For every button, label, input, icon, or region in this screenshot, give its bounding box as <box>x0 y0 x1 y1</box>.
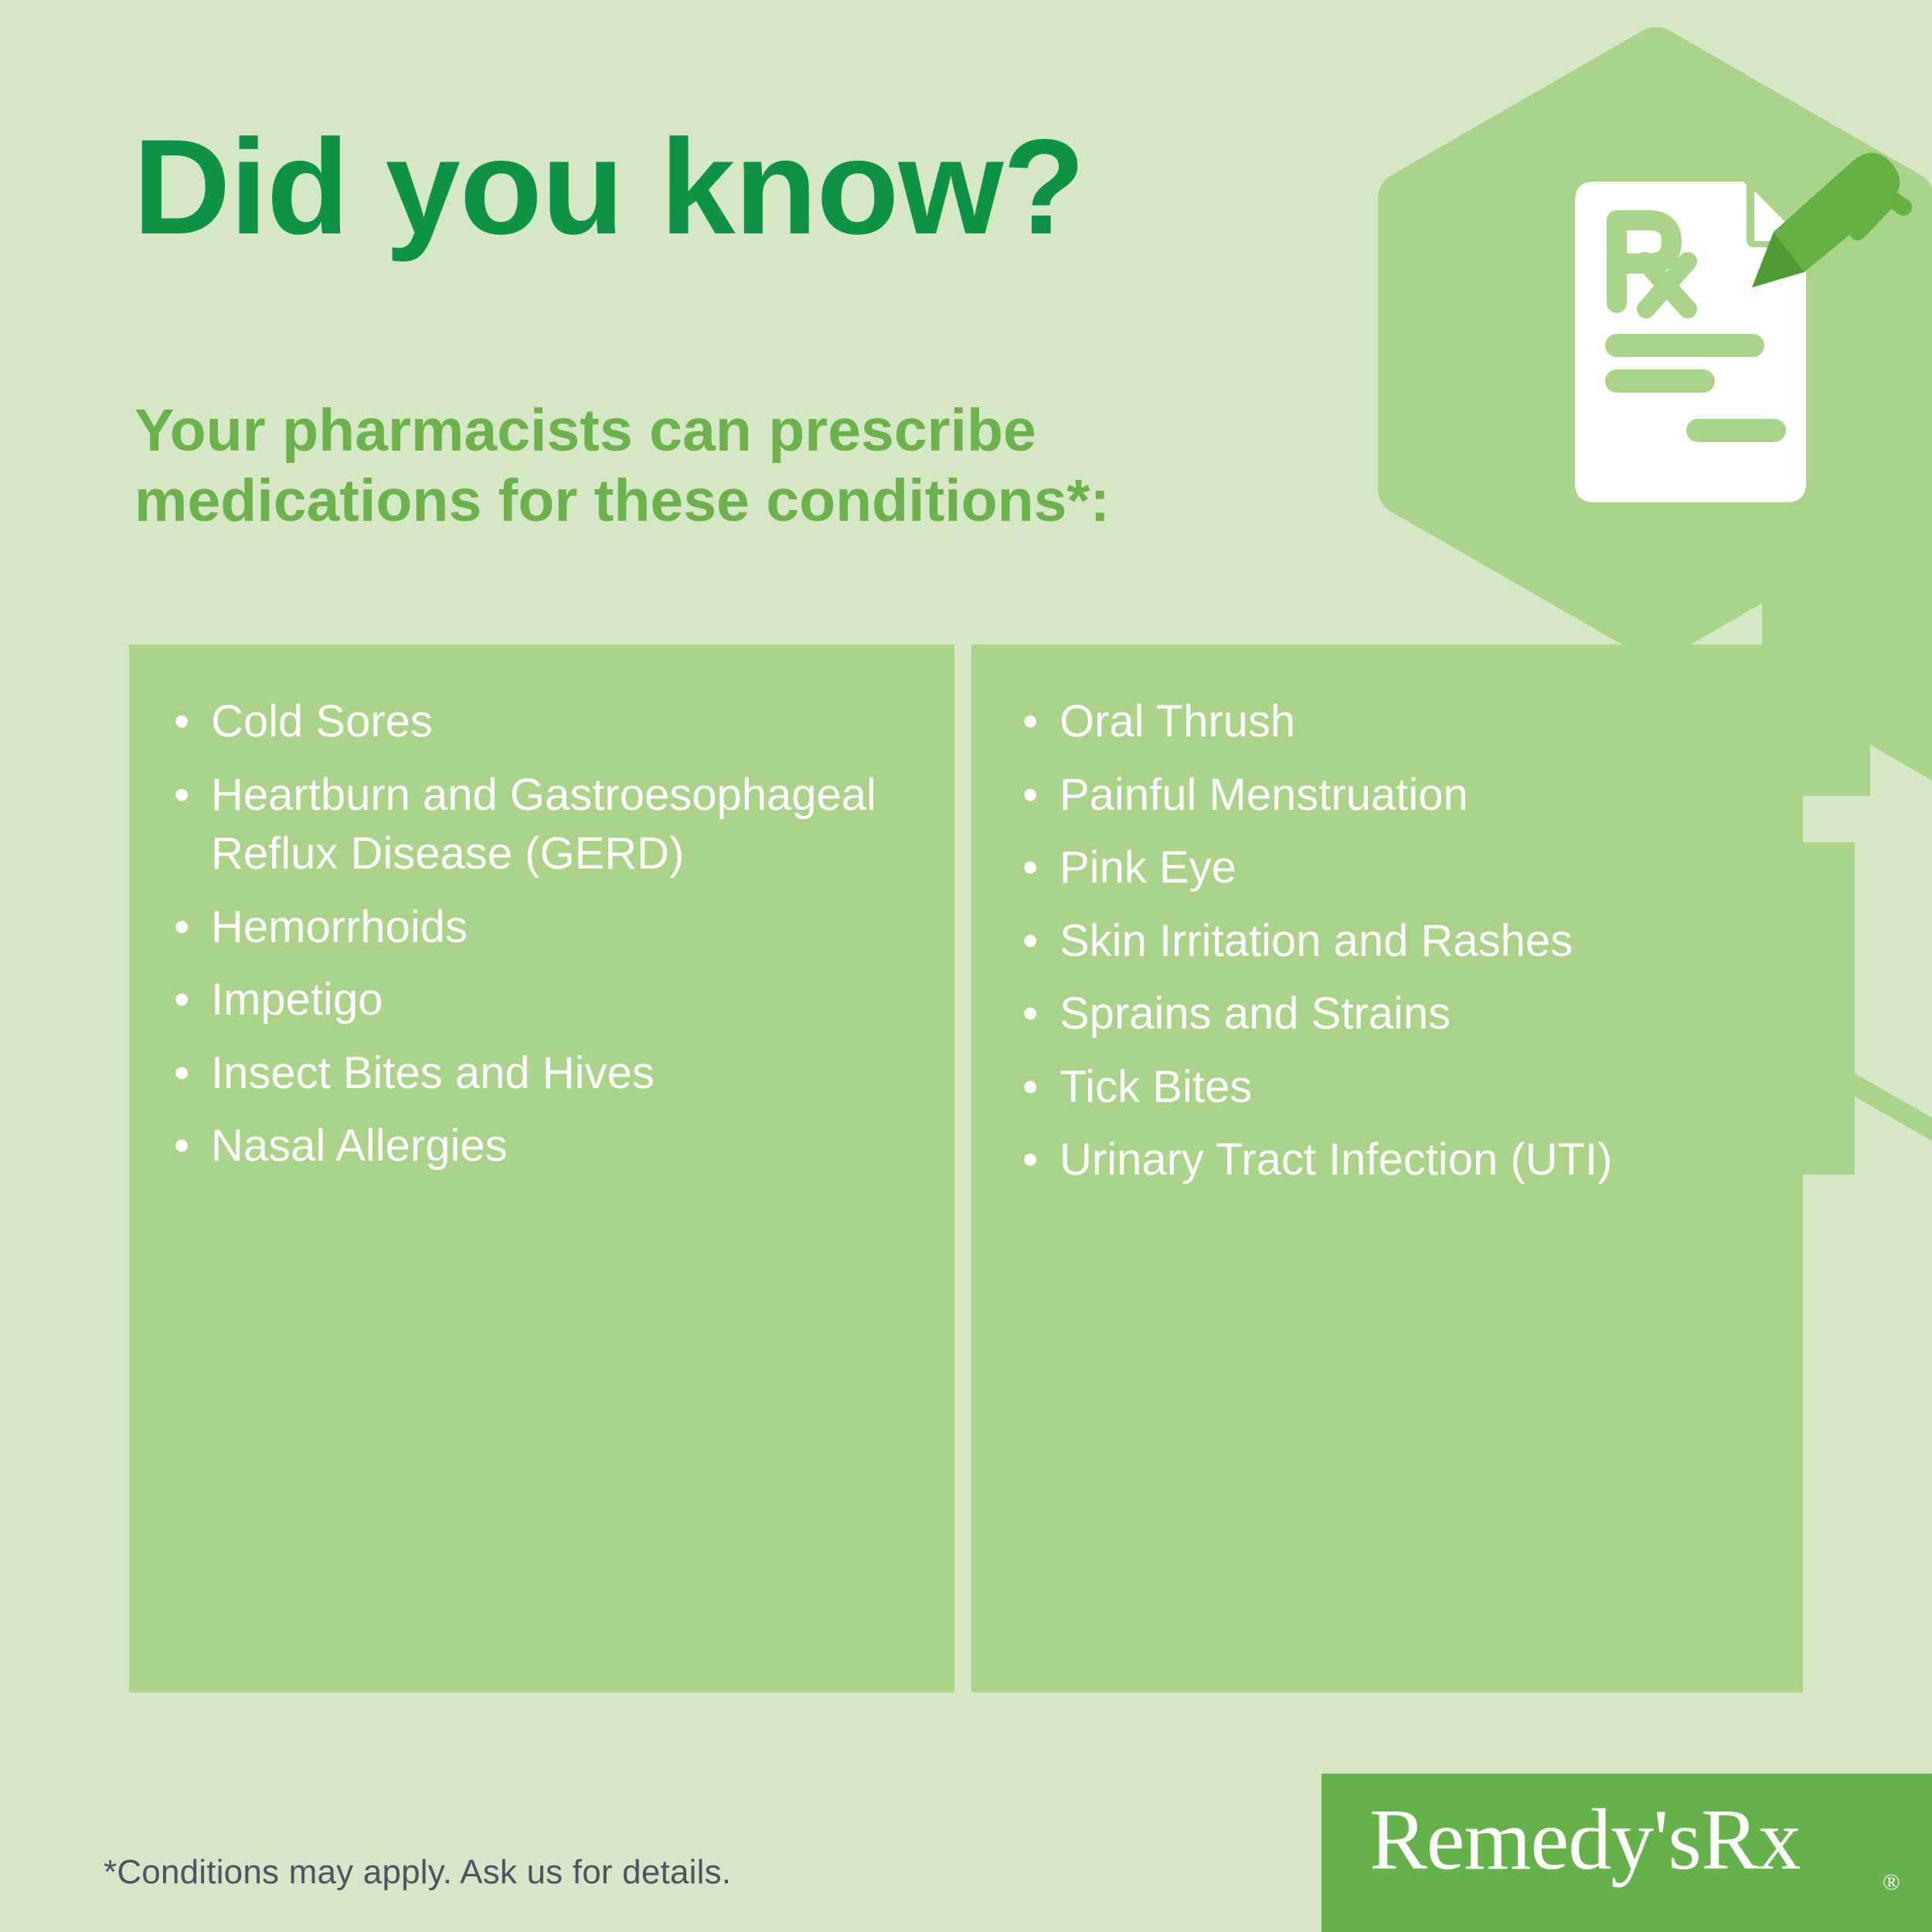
list-item: Cold Sores <box>168 692 916 752</box>
brand-logo-block: Remedy'sRx ® <box>1321 1774 1932 1932</box>
hexagon-shape <box>1405 54 1907 633</box>
list-item: Tick Bites <box>1016 1058 1764 1117</box>
hexagon-shape-edge <box>1852 255 1932 781</box>
conditions-list-right: Oral Thrush Painful Menstruation Pink Ey… <box>1016 692 1764 1190</box>
page-subtitle: Your pharmacists can prescribe medicatio… <box>134 396 1110 536</box>
pencil-icon <box>1752 153 1903 287</box>
list-item: Oral Thrush <box>1016 692 1764 752</box>
left-conditions-column: Cold Sores Heartburn and Gastroesophagea… <box>129 645 954 1692</box>
list-item: Skin Irritation and Rashes <box>1016 912 1764 971</box>
document-page-shape <box>1575 182 1812 502</box>
list-item: Painful Menstruation <box>1016 766 1764 825</box>
subtitle-line-1: Your pharmacists can prescribe <box>134 396 1110 466</box>
list-item: Nasal Allergies <box>168 1117 916 1176</box>
right-conditions-column: Oral Thrush Painful Menstruation Pink Ey… <box>971 645 1803 1692</box>
list-item: Hemorrhoids <box>168 898 916 957</box>
footnote-disclaimer: *Conditions may apply. Ask us for detail… <box>104 1853 731 1892</box>
list-item: Urinary Tract Infection (UTI) <box>1016 1131 1764 1190</box>
list-item: Pink Eye <box>1016 838 1764 898</box>
list-item: Heartburn and Gastroesophageal Reflux Di… <box>168 766 916 884</box>
conditions-list-left: Cold Sores Heartburn and Gastroesophagea… <box>168 692 916 1176</box>
list-item: Insect Bites and Hives <box>168 1044 916 1104</box>
subtitle-line-2: medications for these conditions*: <box>134 466 1110 536</box>
list-item: Impetigo <box>168 971 916 1030</box>
list-item: Sprains and Strains <box>1016 985 1764 1044</box>
document-text-lines <box>1617 345 1753 381</box>
conditions-panels: Cold Sores Heartburn and Gastroesophagea… <box>129 645 1803 1692</box>
rx-symbol <box>1617 220 1688 309</box>
poster-canvas: Did you know? Your pharmacists can presc… <box>0 0 1932 1932</box>
brand-logo-text: Remedy'sRx <box>1369 1797 1801 1883</box>
registered-trademark-icon: ® <box>1883 1869 1900 1896</box>
page-title: Did you know? <box>133 120 1084 255</box>
